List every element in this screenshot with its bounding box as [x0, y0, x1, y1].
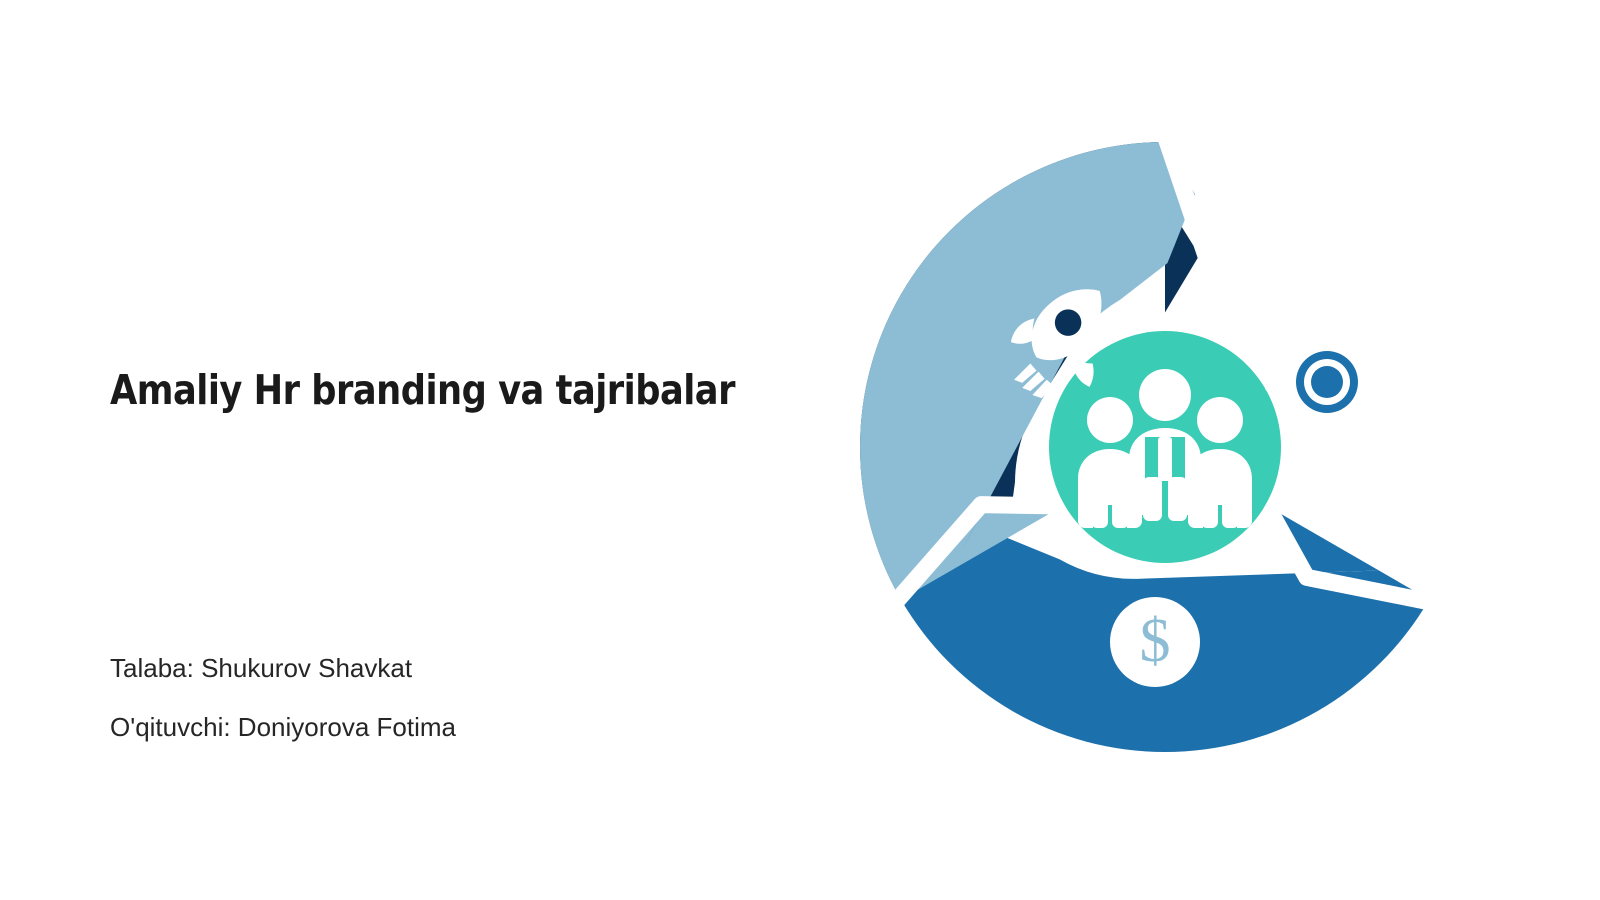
three-segment-cycle-diagram: $ [855, 137, 1475, 763]
svg-text:$: $ [1140, 607, 1171, 675]
text-column: Amaliy Hr branding va tajribalar Talaba:… [110, 0, 810, 900]
credit-student: Talaba: Shukurov Shavkat [110, 655, 810, 681]
credit-teacher: O'qituvchi: Doniyorova Fotima [110, 714, 810, 740]
dollar-coin-icon: $ [1110, 597, 1200, 687]
page-title: Amaliy Hr branding va tajribalar [110, 368, 712, 413]
credits-block: Talaba: Shukurov Shavkat O'qituvchi: Don… [110, 655, 810, 773]
slide-canvas: Amaliy Hr branding va tajribalar Talaba:… [0, 0, 1600, 900]
gear-icon [1265, 320, 1389, 444]
